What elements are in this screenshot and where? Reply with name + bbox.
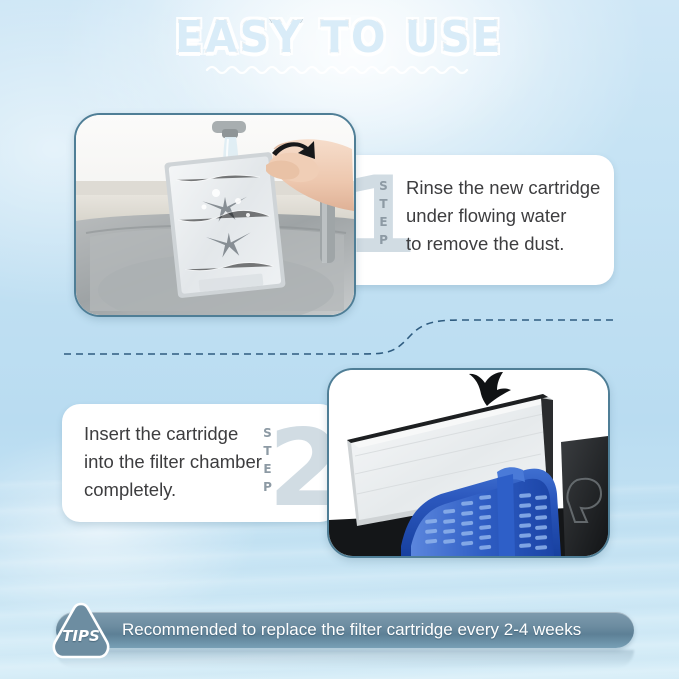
infographic-page: EASY TO USE 1 STEP Rinse the new cartrid… bbox=[0, 0, 679, 679]
step-2-instruction: Insert the cartridge into the filter cha… bbox=[84, 420, 262, 504]
page-title-block: EASY TO USE bbox=[0, 16, 679, 76]
tips-triangle-icon bbox=[48, 600, 114, 662]
step-1-photo bbox=[74, 113, 356, 317]
wavy-line-icon bbox=[205, 62, 475, 76]
step-2-photo bbox=[327, 368, 610, 558]
step-1-text-card: 1 STEP Rinse the new cartridge under flo… bbox=[330, 155, 614, 285]
step-1-step-word: STEP bbox=[376, 177, 392, 249]
step-2-step-word: STEP bbox=[260, 424, 276, 496]
step-1-instruction: Rinse the new cartridge under flowing wa… bbox=[406, 174, 600, 258]
step-2-text-card: 2 STEP Insert the cartridge into the fil… bbox=[62, 404, 338, 522]
tips-badge: TIPS bbox=[48, 600, 114, 662]
tips-bar-reflection bbox=[56, 650, 634, 668]
tips-bar: Recommended to replace the filter cartri… bbox=[56, 612, 634, 648]
tips-message: Recommended to replace the filter cartri… bbox=[122, 612, 620, 648]
page-title: EASY TO USE bbox=[176, 16, 504, 60]
photo-insert-cartridge-illustration bbox=[329, 370, 608, 556]
photo-rinse-cartridge-illustration bbox=[76, 115, 354, 315]
